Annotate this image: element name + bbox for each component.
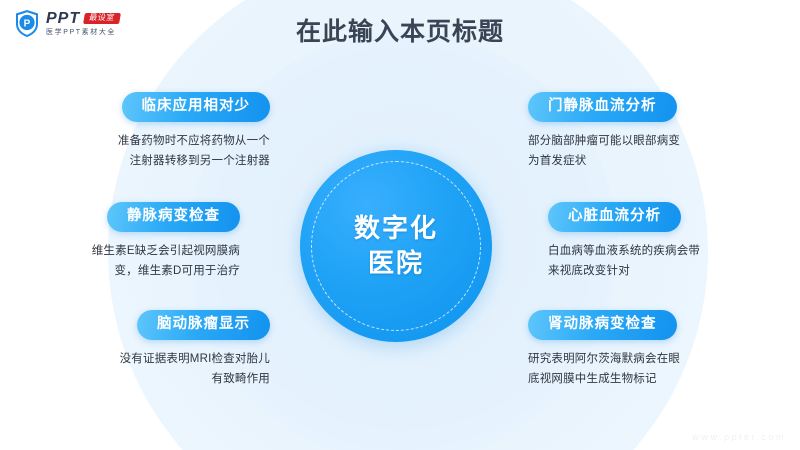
center-hub-label: 数字化 医院 xyxy=(300,150,492,342)
item-right-3-description: 研究表明阿尔茨海默病会在眼 底视网膜中生成生物标记 xyxy=(528,349,788,389)
item-left-3-line-1: 没有证据表明MRI检查对胎儿 xyxy=(10,349,270,369)
item-right-3-pill[interactable]: 肾动脉病变检查 xyxy=(528,310,677,340)
item-left-1-line-1: 准备药物时不应将药物从一个 xyxy=(10,131,270,151)
item-right-1: 门静脉血流分析 部分脑部肿瘤可能以眼部病变 为首发症状 xyxy=(528,92,788,171)
item-left-2-line-2: 变，维生素D可用于治疗 xyxy=(0,261,240,281)
item-right-1-pill[interactable]: 门静脉血流分析 xyxy=(528,92,677,122)
item-right-1-description: 部分脑部肿瘤可能以眼部病变 为首发症状 xyxy=(528,131,788,171)
item-right-2-description: 白血病等血液系统的疾病会带 来视底改变针对 xyxy=(548,241,800,281)
item-right-1-line-1: 部分脑部肿瘤可能以眼部病变 xyxy=(528,131,788,151)
center-hub: 数字化 医院 xyxy=(300,150,492,342)
item-left-1-line-2: 注射器转移到另一个注射器 xyxy=(10,151,270,171)
site-watermark: www.ppter.com xyxy=(692,432,786,442)
center-hub-line1: 数字化 xyxy=(354,211,438,246)
item-right-3: 肾动脉病变检查 研究表明阿尔茨海默病会在眼 底视网膜中生成生物标记 xyxy=(528,310,788,389)
item-right-2-pill[interactable]: 心脏血流分析 xyxy=(548,202,681,232)
item-right-1-line-2: 为首发症状 xyxy=(528,151,788,171)
item-right-3-line-2: 底视网膜中生成生物标记 xyxy=(528,369,788,389)
item-left-1-pill[interactable]: 临床应用相对少 xyxy=(122,92,271,122)
item-left-2-description: 维生素E缺乏会引起视网膜病 变，维生素D可用于治疗 xyxy=(0,241,240,281)
item-left-2-line-1: 维生素E缺乏会引起视网膜病 xyxy=(0,241,240,261)
item-left-1: 临床应用相对少 准备药物时不应将药物从一个 注射器转移到另一个注射器 xyxy=(10,92,270,171)
item-left-1-description: 准备药物时不应将药物从一个 注射器转移到另一个注射器 xyxy=(10,131,270,171)
item-left-3-line-2: 有致畸作用 xyxy=(10,369,270,389)
item-left-2-pill[interactable]: 静脉病变检查 xyxy=(107,202,240,232)
item-left-3: 脑动脉瘤显示 没有证据表明MRI检查对胎儿 有致畸作用 xyxy=(10,310,270,389)
item-left-3-pill[interactable]: 脑动脉瘤显示 xyxy=(137,310,270,340)
item-left-3-description: 没有证据表明MRI检查对胎儿 有致畸作用 xyxy=(10,349,270,389)
item-right-2: 心脏血流分析 白血病等血液系统的疾病会带 来视底改变针对 xyxy=(548,202,800,281)
slide-canvas: P PPT 最设室 医学PPT素材大全 在此输入本页标题 数字化 医院 临床应用… xyxy=(0,0,800,450)
center-hub-line2: 医院 xyxy=(368,246,424,281)
item-left-2: 静脉病变检查 维生素E缺乏会引起视网膜病 变，维生素D可用于治疗 xyxy=(0,202,240,281)
item-right-2-line-1: 白血病等血液系统的疾病会带 xyxy=(548,241,800,261)
page-title: 在此输入本页标题 xyxy=(0,12,800,48)
item-right-2-line-2: 来视底改变针对 xyxy=(548,261,800,281)
item-right-3-line-1: 研究表明阿尔茨海默病会在眼 xyxy=(528,349,788,369)
